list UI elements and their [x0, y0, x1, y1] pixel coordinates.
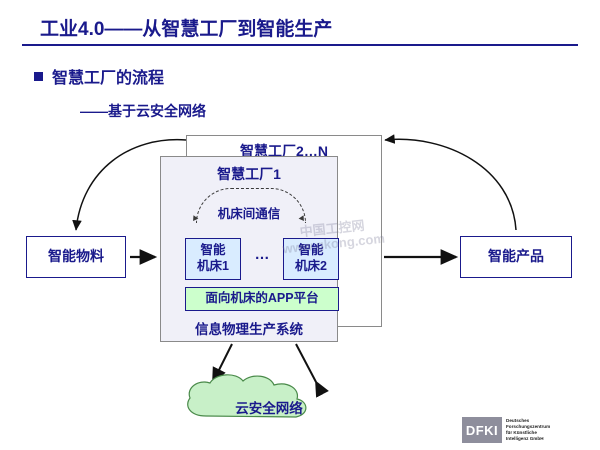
bullet-item-process-label: 智慧工厂的流程	[52, 64, 164, 88]
title-divider	[22, 44, 578, 46]
smart-products-box: 智能产品	[460, 236, 572, 278]
smart-products-label: 智能产品	[488, 248, 544, 266]
app-platform-label: 面向机床的APP平台	[205, 291, 318, 307]
cyber-physical-system-label: 信息物理生产系统	[160, 318, 338, 338]
bullet-item-process: 智慧工厂的流程	[34, 64, 164, 88]
machine-1-box: 智能 机床1	[185, 238, 241, 280]
page-title: 工业4.0——从智慧工厂到智能生产	[40, 14, 332, 41]
machine-communication-label: 机床间通信	[160, 203, 338, 222]
dfki-logo-text: Deutsches Forschungszentrum für Künstlic…	[506, 418, 550, 443]
bullet-square-icon	[34, 72, 43, 81]
smart-materials-box: 智能物料	[26, 236, 126, 278]
smart-materials-label: 智能物料	[48, 248, 104, 266]
machine-1-label-line1: 智能	[197, 243, 229, 259]
app-platform-box: 面向机床的APP平台	[185, 287, 339, 311]
machine-1-label-line2: 机床1	[197, 259, 229, 275]
cloud-network-label: 云安全网络	[186, 397, 352, 417]
dfki-logo: DFKI Deutsches Forschungszentrum für Kün…	[462, 416, 584, 444]
machine-2-label-line2: 机床2	[295, 259, 327, 275]
bullet-subitem-cloud-network: ——基于云安全网络	[80, 101, 206, 121]
dfki-logo-text-line4: Intelligenz GmbH	[506, 436, 550, 442]
factory-1-label: 智慧工厂1	[217, 166, 281, 184]
slide-canvas: 工业4.0——从智慧工厂到智能生产 智慧工厂的流程 ——基于云安全网络	[0, 0, 600, 450]
dfki-logo-mark: DFKI	[462, 417, 502, 443]
